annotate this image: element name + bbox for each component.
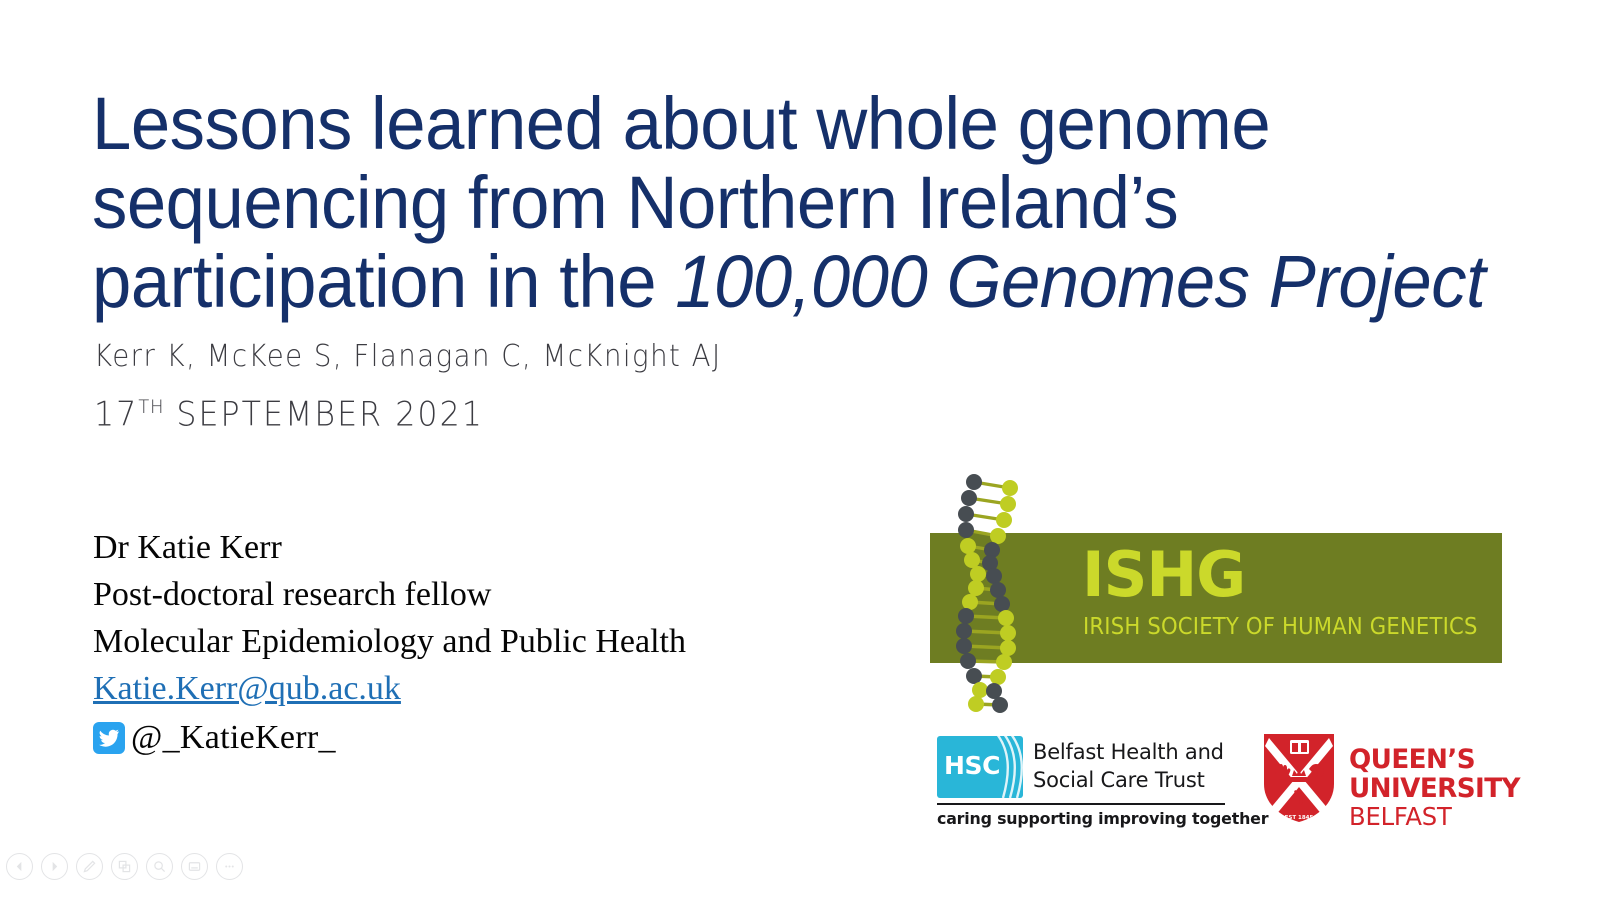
screen-icon bbox=[188, 860, 201, 873]
hsc-divider bbox=[937, 803, 1225, 805]
presenter-view-button[interactable] bbox=[181, 853, 208, 880]
ishg-acronym: ISHG bbox=[1082, 544, 1245, 606]
title-line-1: Lessons learned about whole genome bbox=[92, 82, 1270, 165]
twitter-row: @_KatieKerr_ bbox=[93, 714, 686, 761]
date-rest: SEPTEMBER 2021 bbox=[164, 394, 484, 434]
hsc-name-line-2: Social Care Trust bbox=[1033, 766, 1224, 794]
hsc-top-row: HSC Belfast Health and Social Care Trust bbox=[937, 736, 1225, 798]
slideshow-toolbar bbox=[6, 853, 243, 880]
more-options-button[interactable] bbox=[216, 853, 243, 880]
ishg-tagline: IRISH SOCIETY OF HUMAN GENETICS bbox=[1083, 615, 1478, 640]
qub-shield-icon: EST 1845 bbox=[1261, 732, 1337, 824]
qub-line-1: QUEEN’S bbox=[1349, 745, 1520, 774]
pen-icon bbox=[83, 860, 96, 873]
zoom-button[interactable] bbox=[146, 853, 173, 880]
pen-tool-button[interactable] bbox=[76, 853, 103, 880]
hsc-mark-icon: HSC bbox=[937, 736, 1023, 798]
qub-shield-motto: EST 1845 bbox=[1285, 815, 1314, 821]
hsc-logo: HSC Belfast Health and Social Care Trust… bbox=[937, 736, 1225, 832]
author-list: Kerr K, McKee S, Flanagan C, McKnight AJ bbox=[94, 337, 722, 377]
presenter-department: Molecular Epidemiology and Public Health bbox=[93, 618, 686, 665]
qub-logo: EST 1845 QUEEN’S UNIVERSITY BELFAST bbox=[1261, 732, 1509, 832]
date-ordinal-suffix: TH bbox=[138, 396, 164, 418]
title-line-3-plain: participation in the bbox=[92, 240, 675, 323]
previous-slide-button[interactable] bbox=[6, 853, 33, 880]
hsc-name-line-1: Belfast Health and bbox=[1033, 738, 1224, 766]
hsc-mark-text: HSC bbox=[944, 753, 1000, 779]
hsc-trust-name: Belfast Health and Social Care Trust bbox=[1033, 736, 1224, 794]
magnifier-icon bbox=[153, 860, 166, 873]
page-title: Lessons learned about whole genome seque… bbox=[92, 84, 1496, 321]
triangle-left-icon bbox=[14, 861, 25, 872]
grid-icon bbox=[118, 860, 131, 873]
twitter-icon[interactable] bbox=[93, 722, 125, 754]
twitter-handle: @_KatieKerr_ bbox=[131, 714, 336, 761]
presenter-name: Dr Katie Kerr bbox=[93, 524, 686, 571]
title-line-3-italic: 100,000 Genomes Project bbox=[675, 240, 1485, 323]
contact-block: Dr Katie Kerr Post-doctoral research fel… bbox=[93, 524, 686, 761]
qub-line-2: UNIVERSITY bbox=[1349, 774, 1520, 803]
presentation-date: 17TH SEPTEMBER 2021 bbox=[94, 384, 484, 437]
next-slide-button[interactable] bbox=[41, 853, 68, 880]
qub-line-3: BELFAST bbox=[1349, 803, 1520, 831]
hsc-tagline: caring supporting improving together bbox=[937, 808, 1222, 830]
date-day: 17 bbox=[94, 394, 138, 434]
presenter-role: Post-doctoral research fellow bbox=[93, 571, 686, 618]
ellipsis-icon bbox=[223, 860, 236, 873]
presentation-slide: Lessons learned about whole genome seque… bbox=[0, 0, 1600, 900]
slide-grid-button[interactable] bbox=[111, 853, 138, 880]
title-line-2: sequencing from Northern Ireland’s bbox=[92, 161, 1178, 244]
title-block: Lessons learned about whole genome seque… bbox=[92, 84, 1562, 321]
dna-helix-icon bbox=[936, 468, 1056, 716]
triangle-right-icon bbox=[49, 861, 60, 872]
ishg-logo: ISHG IRISH SOCIETY OF HUMAN GENETICS bbox=[930, 468, 1502, 716]
qub-wordmark: QUEEN’S UNIVERSITY BELFAST bbox=[1349, 732, 1525, 831]
email-link[interactable]: Katie.Kerr@qub.ac.uk bbox=[93, 670, 401, 707]
